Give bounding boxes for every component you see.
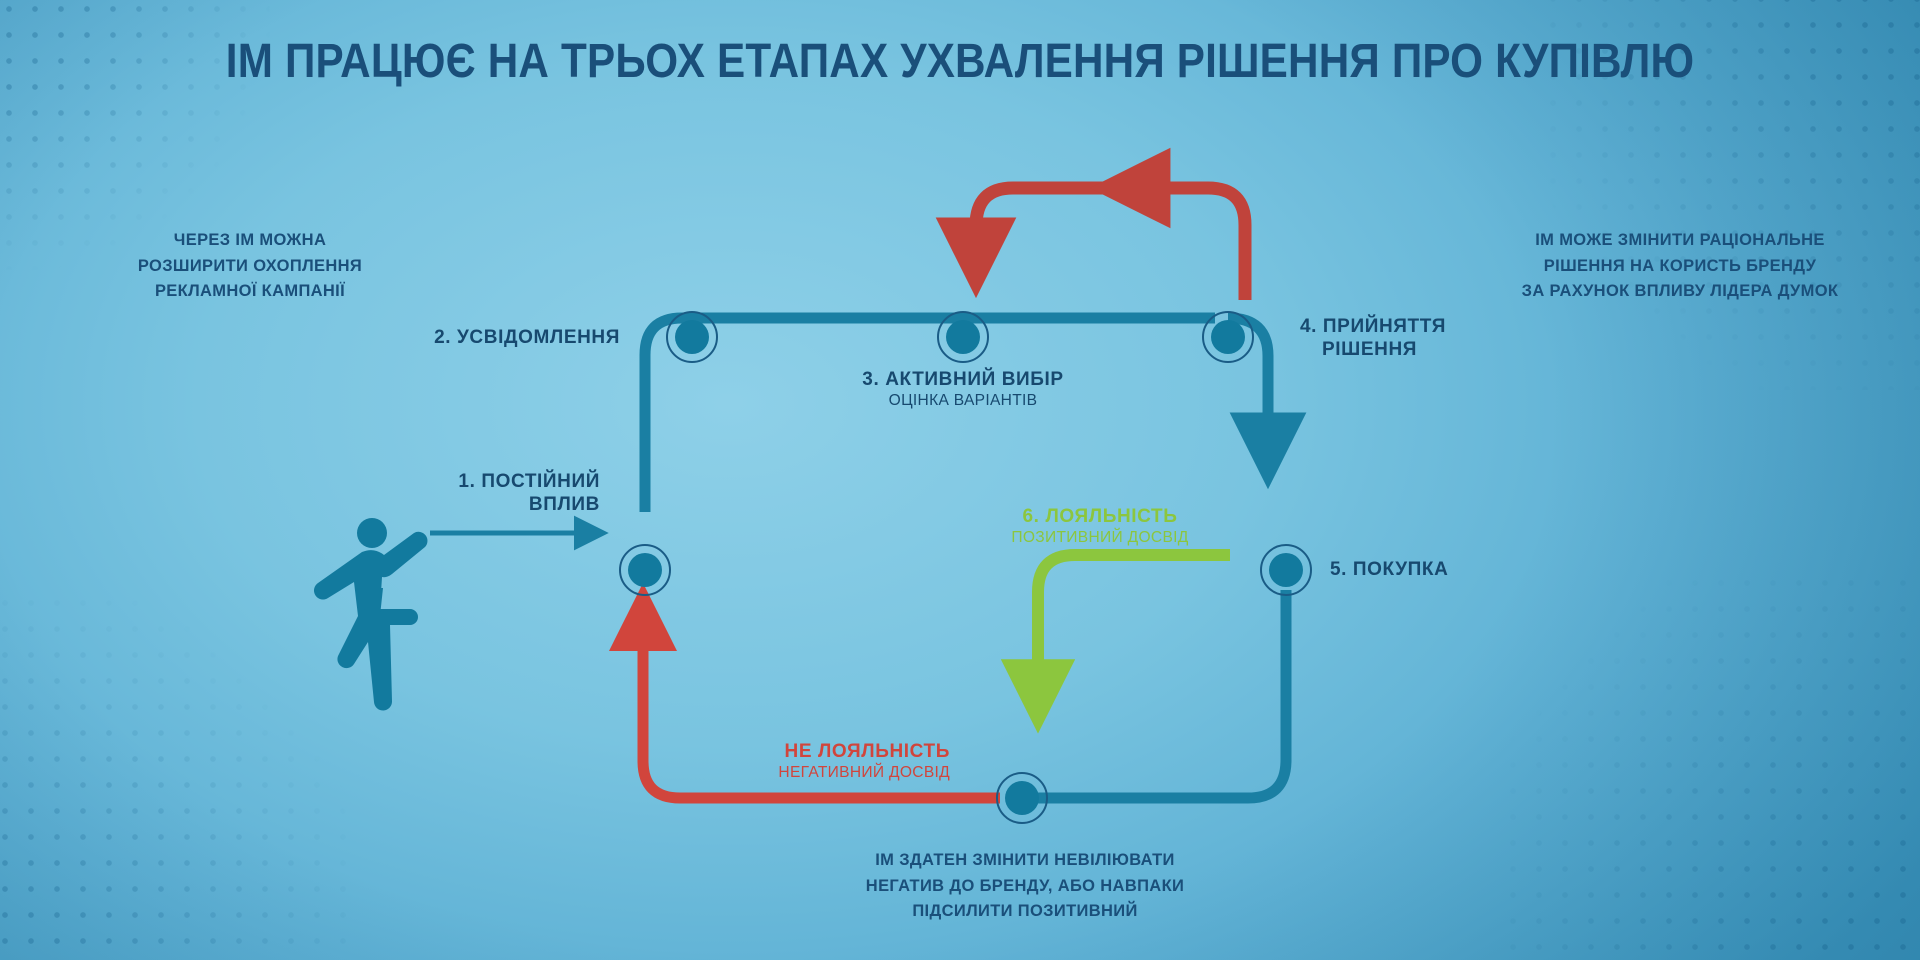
disloyalty-label: НЕ ЛОЯЛЬНІСТЬ НЕГАТИВНИЙ ДОСВІД: [500, 740, 950, 782]
edge-node5-to-feedback-node: [1010, 590, 1286, 798]
annotation-right: ІМ МОЖЕ ЗМІНИТИ РАЦІОНАЛЬНЕ РІШЕННЯ НА К…: [1480, 228, 1880, 305]
node-1-label-line-2: ВПЛИВ: [529, 494, 600, 515]
loyalty-sublabel: ПОЗИТИВНИЙ ДОСВІД: [955, 528, 1245, 547]
edge-loop-node4-up: [1013, 188, 1245, 300]
node-5-label-text: 5. ПОКУПКА: [1330, 559, 1448, 580]
annotation-bottom-line-1: ІМ ЗДАТЕН ЗМІНИТИ НЕВІЛІЮВАТИ: [820, 848, 1230, 874]
annotation-left-line-2: РОЗШИРИТИ ОХОПЛЕННЯ: [80, 254, 420, 280]
node-4-label: 4. ПРИЙНЯТТЯ РІШЕННЯ: [1300, 315, 1640, 361]
loyalty-label: 6. ЛОЯЛЬНІСТЬ ПОЗИТИВНИЙ ДОСВІД: [955, 505, 1245, 547]
annotation-bottom: ІМ ЗДАТЕН ЗМІНИТИ НЕВІЛІЮВАТИ НЕГАТИВ ДО…: [820, 848, 1230, 925]
edge-node1-to-node3: [645, 318, 1140, 512]
node-2-label: 2. УСВІДОМЛЕННЯ: [220, 326, 620, 349]
node-3-sublabel: ОЦІНКА ВАРІАНТІВ: [793, 391, 1133, 410]
edge-loop-down-to-node3: [976, 188, 1013, 278]
node-1-label: 1. ПОСТІЙНИЙ ВПЛИВ: [180, 470, 600, 516]
node-3-label: 3. АКТИВНИЙ ВИБІР ОЦІНКА ВАРІАНТІВ: [793, 368, 1133, 410]
edge-loyalty-node5-to-feedback: [1038, 555, 1230, 715]
node-2-label-text: 2. УСВІДОМЛЕННЯ: [434, 327, 620, 348]
disloyalty-label-text: НЕ ЛОЯЛЬНІСТЬ: [785, 741, 951, 762]
annotation-left: ЧЕРЕЗ ІМ МОЖНА РОЗШИРИТИ ОХОПЛЕННЯ РЕКЛА…: [80, 228, 420, 305]
infographic-canvas: ІМ ПРАЦЮЄ НА ТРЬОХ ЕТАПАХ УХВАЛЕННЯ РІШЕ…: [0, 0, 1920, 960]
node-4-label-line-1: 4. ПРИЙНЯТТЯ: [1300, 316, 1446, 337]
annotation-right-line-1: ІМ МОЖЕ ЗМІНИТИ РАЦІОНАЛЬНЕ: [1480, 228, 1880, 254]
annotation-left-line-3: РЕКЛАМНОЇ КАМПАНІЇ: [80, 279, 420, 305]
node-3-label-text: 3. АКТИВНИЙ ВИБІР: [862, 369, 1063, 390]
node-5-purchase[interactable]: [1261, 545, 1311, 595]
walking-person-icon: [314, 518, 427, 710]
node-1-label-line-1: 1. ПОСТІЙНИЙ: [458, 471, 600, 492]
annotation-bottom-line-3: ПІДСИЛИТИ ПОЗИТИВНИЙ: [820, 899, 1230, 925]
annotation-left-line-1: ЧЕРЕЗ ІМ МОЖНА: [80, 228, 420, 254]
loyalty-label-text: 6. ЛОЯЛЬНІСТЬ: [1023, 506, 1178, 527]
node-1-constant-influence[interactable]: [620, 545, 670, 595]
node-4-label-line-2: РІШЕННЯ: [1322, 338, 1417, 361]
annotation-right-line-2: РІШЕННЯ НА КОРИСТЬ БРЕНДУ: [1480, 254, 1880, 280]
node-5-label: 5. ПОКУПКА: [1330, 558, 1630, 581]
annotation-bottom-line-2: НЕГАТИВ ДО БРЕНДУ, АБО НАВПАКИ: [820, 874, 1230, 900]
annotation-right-line-3: ЗА РАХУНОК ВПЛИВУ ЛІДЕРА ДУМОК: [1480, 279, 1880, 305]
disloyalty-sublabel: НЕГАТИВНИЙ ДОСВІД: [500, 763, 950, 782]
